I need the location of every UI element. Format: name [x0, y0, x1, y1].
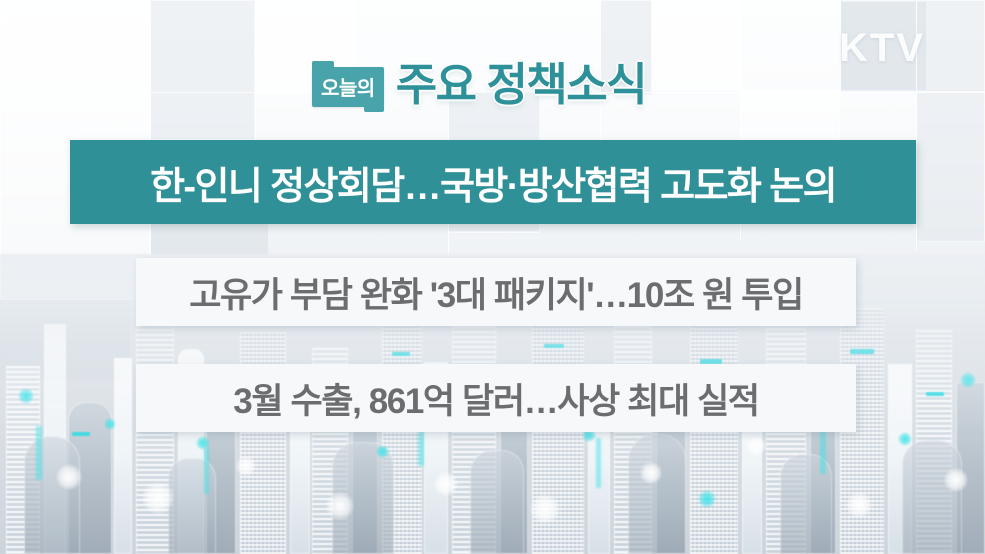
- broadcast-screen: KTV 오늘의 주요 정책소식 한-인니 정상회담…국방·방산협력 고도화 논의…: [0, 0, 985, 554]
- today-badge: 오늘의: [312, 67, 384, 107]
- headline-text: 한-인니 정상회담…국방·방산협력 고도화 논의: [150, 155, 836, 210]
- headline-text: 3월 수출, 861억 달러…사상 최대 실적: [233, 373, 758, 424]
- ktv-channel-logo: KTV: [839, 26, 925, 71]
- headline-item-secondary-2[interactable]: 3월 수출, 861억 달러…사상 최대 실적: [136, 364, 856, 432]
- program-title-block: 오늘의 주요 정책소식: [312, 62, 646, 107]
- headline-item-secondary-1[interactable]: 고유가 부담 완화 '3대 패키지'…10조 원 투입: [136, 258, 856, 326]
- headline-text: 고유가 부담 완화 '3대 패키지'…10조 원 투입: [189, 267, 803, 318]
- page-title: 주요 정책소식: [396, 62, 646, 107]
- headline-item-primary[interactable]: 한-인니 정상회담…국방·방산협력 고도화 논의: [70, 140, 916, 224]
